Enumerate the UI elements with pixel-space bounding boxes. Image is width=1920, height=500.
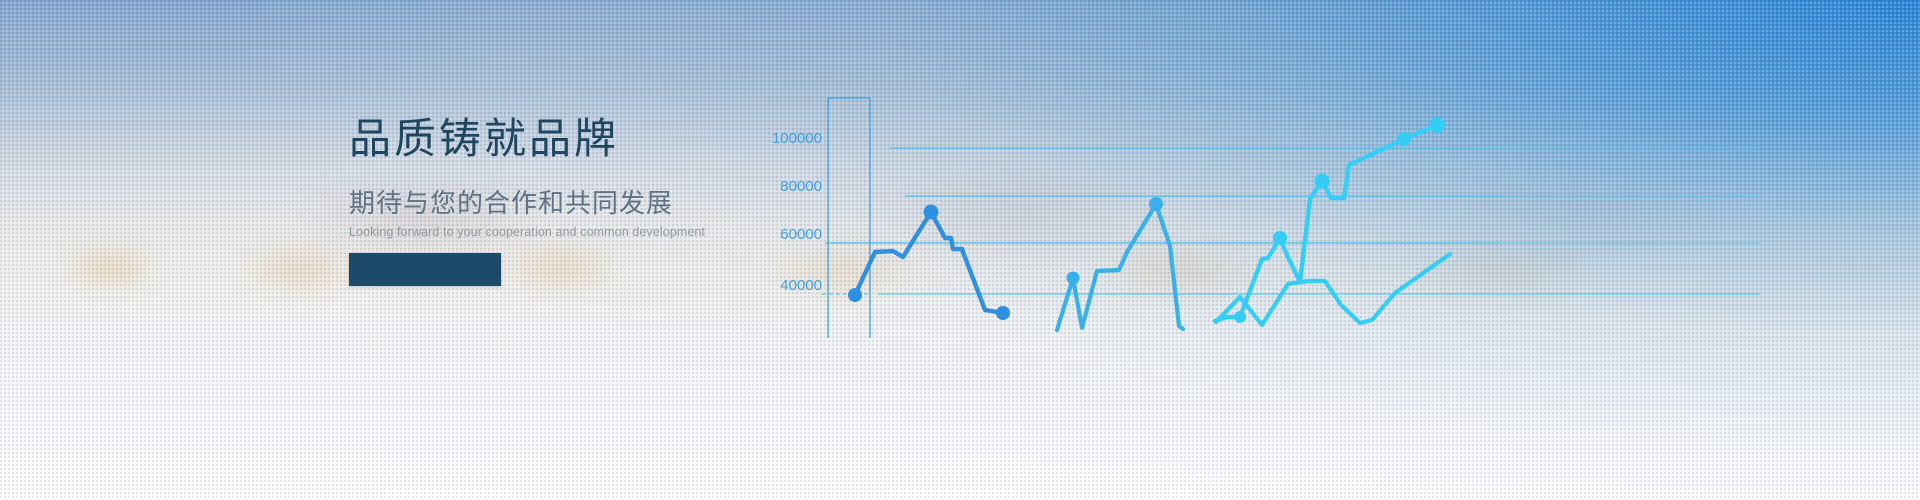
line-chart: 100000 80000 60000 40000 xyxy=(760,0,1920,500)
y-tick-60000: 60000 xyxy=(780,226,822,243)
chart-svg: 100000 80000 60000 40000 xyxy=(760,0,1920,500)
hero-banner: 品质铸就品牌 期待与您的合作和共同发展 Looking forward to y… xyxy=(0,0,1920,500)
chart-series-2 xyxy=(1057,204,1183,330)
y-tick-100000: 100000 xyxy=(772,130,822,147)
chart-axis-box xyxy=(828,98,870,338)
chart-gridlines xyxy=(822,148,1760,294)
y-tick-40000: 40000 xyxy=(780,277,822,294)
data-point xyxy=(1234,311,1246,323)
cta-button[interactable] xyxy=(349,253,501,286)
page-title: 品质铸就品牌 xyxy=(349,118,829,160)
hero-copy-block: 品质铸就品牌 期待与您的合作和共同发展 Looking forward to y… xyxy=(349,118,829,239)
data-point xyxy=(996,306,1010,320)
data-point xyxy=(1397,132,1411,146)
chart-y-tick-labels: 100000 80000 60000 40000 xyxy=(772,130,822,294)
data-point xyxy=(848,288,862,302)
data-point xyxy=(1429,117,1445,133)
data-point xyxy=(1273,231,1287,245)
data-point xyxy=(924,205,939,220)
data-point xyxy=(1067,272,1080,285)
chart-series-1 xyxy=(855,212,1003,313)
y-tick-80000: 80000 xyxy=(780,178,822,195)
page-subtitle-cn: 期待与您的合作和共同发展 xyxy=(349,190,829,216)
chart-series-3 xyxy=(1215,125,1437,321)
page-subtitle-en: Looking forward to your cooperation and … xyxy=(349,226,829,239)
data-point xyxy=(1315,174,1330,189)
data-point xyxy=(1149,197,1163,211)
